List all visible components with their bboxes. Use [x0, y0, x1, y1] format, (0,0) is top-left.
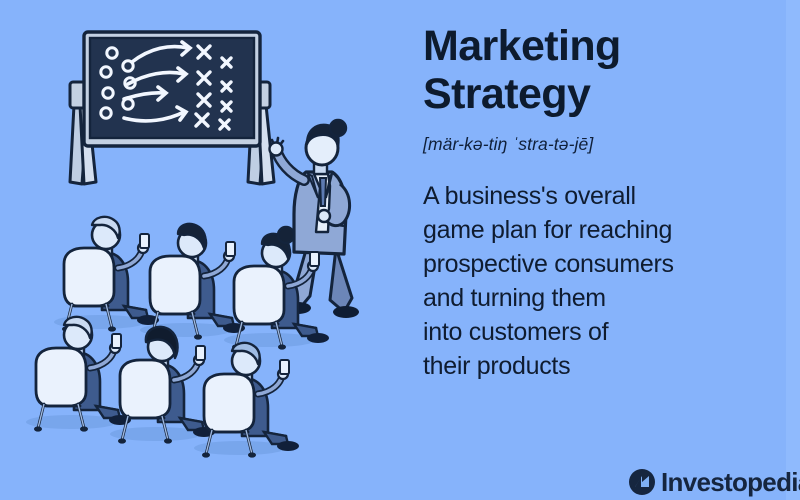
attendee-6 [194, 343, 299, 458]
hair-bun [278, 227, 294, 243]
text-column: Marketing Strategy [mär-kə-tiŋ ˈstra-tə-… [423, 22, 783, 383]
attendee-4 [26, 317, 131, 432]
hair-bun [330, 120, 346, 136]
chalkboard [70, 32, 274, 184]
investopedia-mark-icon [628, 468, 656, 496]
attendee-5 [110, 327, 215, 444]
attendee-2 [140, 224, 245, 340]
definition-text: A business's overall game plan for reach… [423, 179, 783, 383]
page-title: Marketing Strategy [423, 22, 783, 118]
investopedia-wordmark: Investopedia [661, 469, 800, 495]
investopedia-logo: Investopedia [628, 468, 800, 496]
audience-row-back [54, 217, 329, 350]
attendee-1 [54, 217, 159, 332]
right-edge-strip [786, 0, 800, 500]
pronunciation-text: [mär-kə-tiŋ ˈstra-tə-jē] [423, 134, 783, 155]
presentation-illustration [0, 0, 410, 500]
infographic-canvas: Marketing Strategy [mär-kə-tiŋ ˈstra-tə-… [0, 0, 800, 500]
